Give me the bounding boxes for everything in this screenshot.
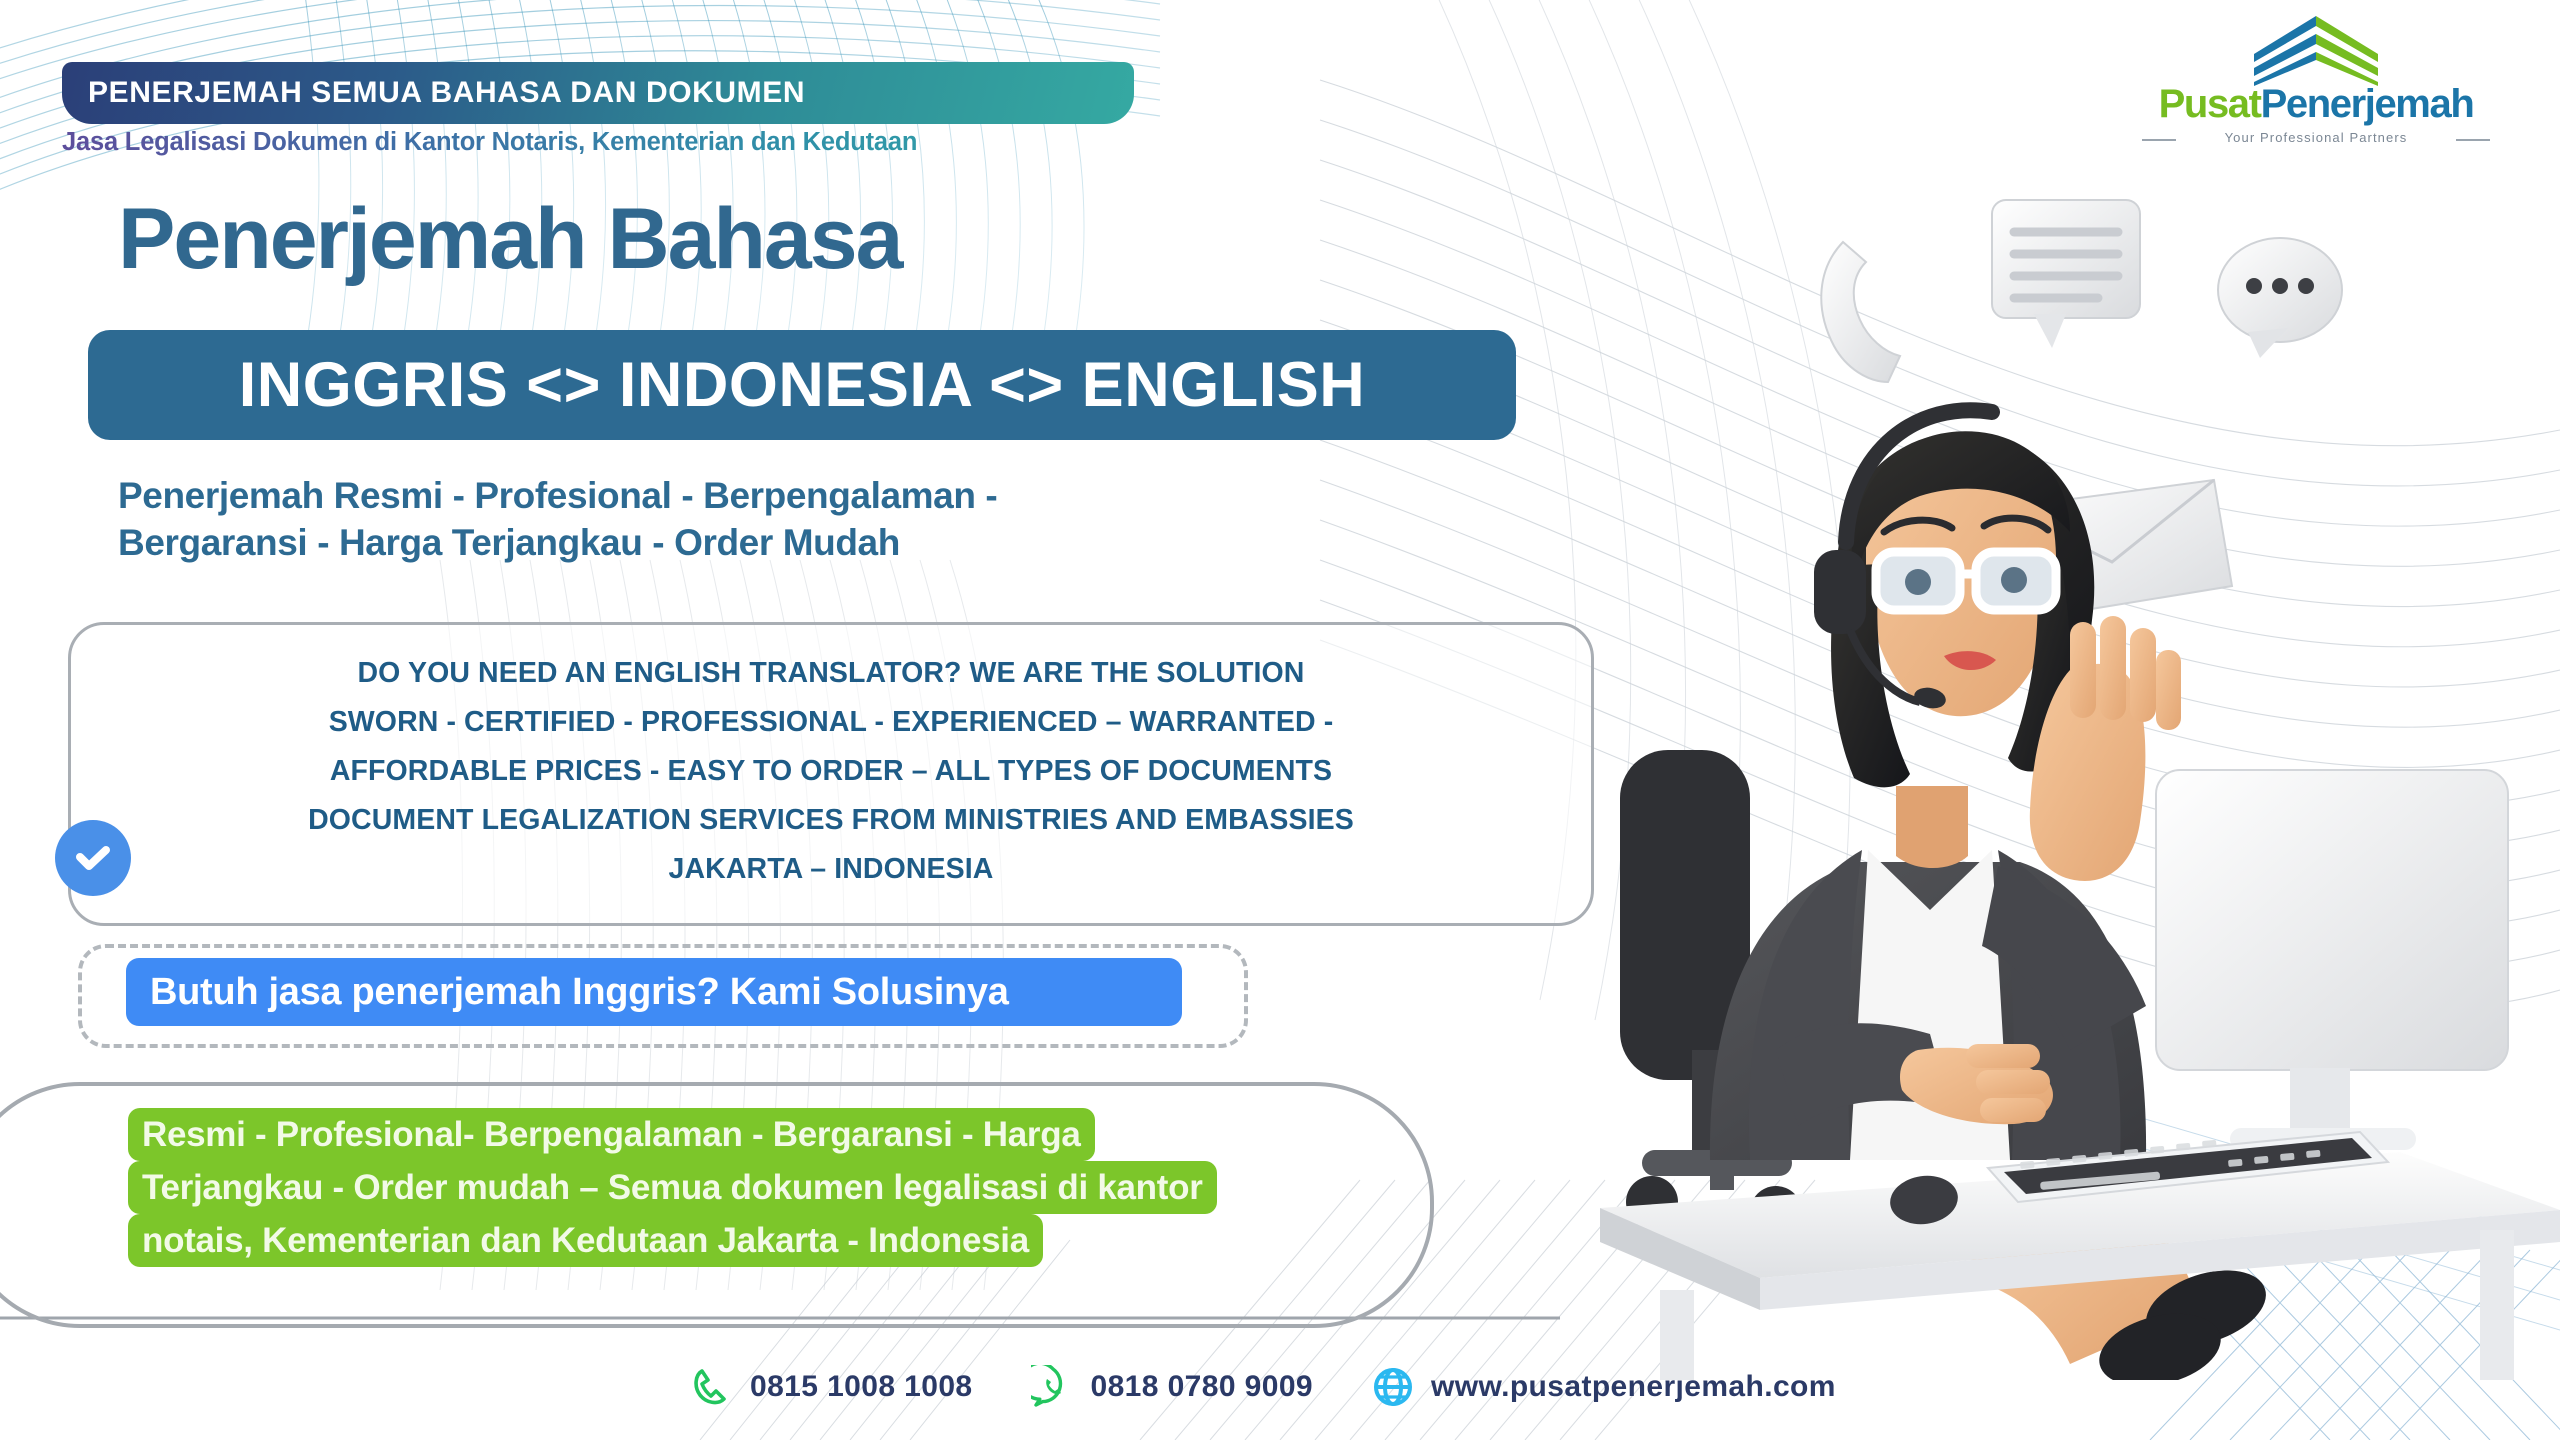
contact-whatsapp[interactable]: 0818 0780 9009 [1031,1365,1314,1409]
banner-title: PENERJEMAH SEMUA BAHASA DAN DOKUMEN [62,76,805,110]
phone-handset-icon [1821,242,1900,382]
logo-tagline: Your Professional Partners [2106,130,2526,145]
language-pair-bar: INGGRIS <> INDONESIA <> ENGLISH [88,330,1516,440]
poster-canvas: PENERJEMAH SEMUA BAHASA DAN DOKUMEN Jasa… [0,0,2560,1440]
english-description-text: DO YOU NEED AN ENGLISH TRANSLATOR? WE AR… [71,649,1591,894]
page-title: Penerjemah Bahasa [118,190,901,289]
hero-tagline: Penerjemah Resmi - Profesional - Berpeng… [118,472,1218,567]
brand-logo[interactable]: PusatPenerjemah Your Professional Partne… [2106,14,2526,154]
phone-number: 0815 1008 1008 [750,1370,973,1404]
customer-service-illustration [1600,150,2560,1380]
english-description-box: DO YOU NEED AN ENGLISH TRANSLATOR? WE AR… [68,622,1594,926]
globe-icon [1371,1365,1415,1409]
header-banner: PENERJEMAH SEMUA BAHASA DAN DOKUMEN [62,62,1134,124]
logo-word-penerjemah: Penerjemah [2261,82,2474,126]
dots-bubble-icon [2218,238,2342,358]
hero-tagline-line-1: Penerjemah Resmi - Profesional - Berpeng… [118,472,1218,519]
services-line-3: notais, Kementerian dan Kedutaan Jakarta… [128,1214,1043,1267]
check-badge [55,820,131,896]
monitor [2156,770,2508,1150]
chat-lines-bubble-icon [1992,200,2140,348]
cta-button[interactable]: Butuh jasa penerjemah Inggris? Kami Solu… [126,958,1182,1026]
english-line-3: AFFORDABLE PRICES - EASY TO ORDER – ALL … [71,747,1591,796]
hero-tagline-line-2: Bergaransi - Harga Terjangkau - Order Mu… [118,519,1218,566]
language-pair-label: INGGRIS <> INDONESIA <> ENGLISH [239,349,1365,421]
building-chevron-icon [2246,14,2386,86]
services-line-2: Terjangkau - Order mudah – Semua dokumen… [128,1161,1217,1214]
cta-label: Butuh jasa penerjemah Inggris? Kami Solu… [126,971,1009,1014]
banner-subtitle: Jasa Legalisasi Dokumen di Kantor Notari… [62,128,1262,168]
english-line-4: DOCUMENT LEGALIZATION SERVICES FROM MINI… [71,796,1591,845]
logo-word-pusat: Pusat [2159,82,2261,126]
english-line-2: SWORN - CERTIFIED - PROFESSIONAL - EXPER… [71,698,1591,747]
contact-phone[interactable]: 0815 1008 1008 [690,1365,973,1409]
services-highlight-text: Resmi - Profesional- Berpengalaman - Ber… [128,1108,1398,1268]
phone-icon [690,1365,734,1409]
whatsapp-number: 0818 0780 9009 [1091,1370,1314,1404]
logo-wordmark: PusatPenerjemah [2106,82,2526,127]
english-line-5: JAKARTA – INDONESIA [71,845,1591,894]
services-line-1: Resmi - Profesional- Berpengalaman - Ber… [128,1108,1095,1161]
check-icon [69,834,117,882]
english-line-1: DO YOU NEED AN ENGLISH TRANSLATOR? WE AR… [71,649,1591,698]
whatsapp-icon [1031,1365,1075,1409]
